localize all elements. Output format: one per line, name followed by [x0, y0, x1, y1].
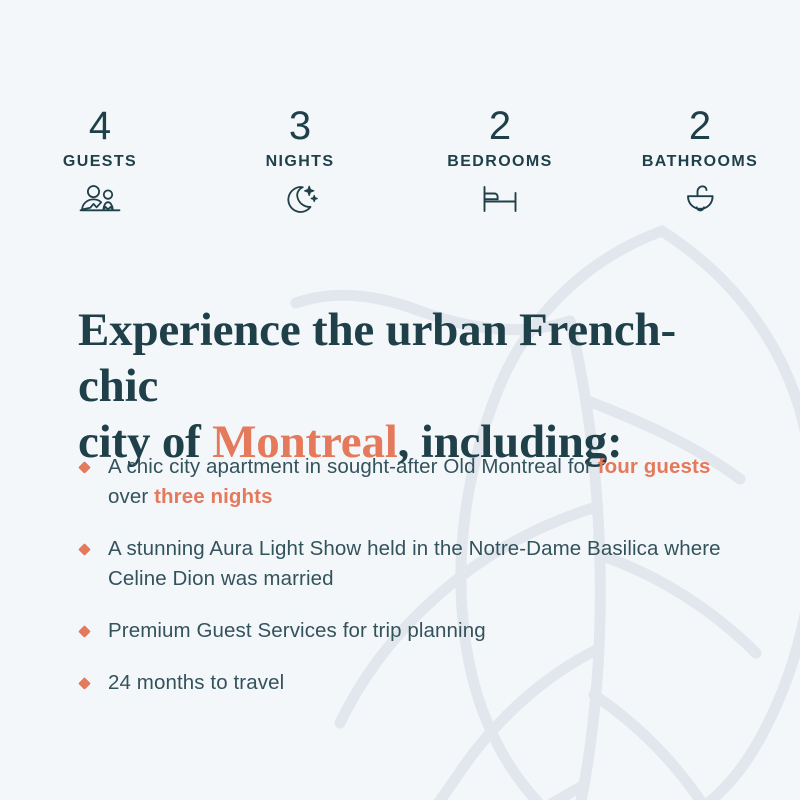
- guests-icon: [77, 182, 123, 216]
- diamond-bullet-icon: [78, 461, 91, 474]
- bullet-text-part: 24 months to travel: [108, 671, 284, 694]
- bullet-highlight: four guests: [598, 455, 711, 478]
- list-item: A stunning Aura Light Show held in the N…: [78, 534, 738, 594]
- diamond-bullet-icon: [78, 625, 91, 638]
- sink-icon: [677, 182, 723, 216]
- inclusions-list: A chic city apartment in sought-after Ol…: [78, 452, 738, 698]
- headline-line-1: Experience the urban French-chic: [78, 304, 676, 412]
- stats-row: 4 GUESTS 3 NIGHTS: [0, 104, 800, 216]
- stat-guests-value: 4: [89, 104, 111, 148]
- stat-guests: 4 GUESTS: [0, 104, 200, 216]
- bullet-text-part: Premium Guest Services for trip planning: [108, 619, 486, 642]
- stat-bedrooms: 2 BEDROOMS: [400, 104, 600, 216]
- list-item: A chic city apartment in sought-after Ol…: [78, 452, 738, 512]
- bullet-text-part: over: [108, 485, 154, 508]
- stat-guests-label: GUESTS: [63, 152, 137, 172]
- promo-card: 4 GUESTS 3 NIGHTS: [0, 0, 800, 800]
- list-item: 24 months to travel: [78, 668, 738, 698]
- bullet-highlight: three nights: [154, 485, 273, 508]
- stat-nights-label: NIGHTS: [266, 152, 335, 172]
- headline: Experience the urban French-chic city of…: [78, 302, 738, 470]
- bullet-text-part: A stunning Aura Light Show held in the N…: [108, 537, 721, 590]
- moon-stars-icon: [277, 182, 323, 216]
- bullet-text-part: A chic city apartment in sought-after Ol…: [108, 455, 598, 478]
- stat-bedrooms-label: BEDROOMS: [447, 152, 552, 172]
- stat-bathrooms-label: BATHROOMS: [642, 152, 758, 172]
- diamond-bullet-icon: [78, 677, 91, 690]
- stat-bedrooms-value: 2: [489, 104, 511, 148]
- stat-nights-value: 3: [289, 104, 311, 148]
- stat-bathrooms-value: 2: [689, 104, 711, 148]
- diamond-bullet-icon: [78, 543, 91, 556]
- bed-icon: [477, 182, 523, 216]
- list-item: Premium Guest Services for trip planning: [78, 616, 738, 646]
- stat-bathrooms: 2 BATHROOMS: [600, 104, 800, 216]
- stat-nights: 3 NIGHTS: [200, 104, 400, 216]
